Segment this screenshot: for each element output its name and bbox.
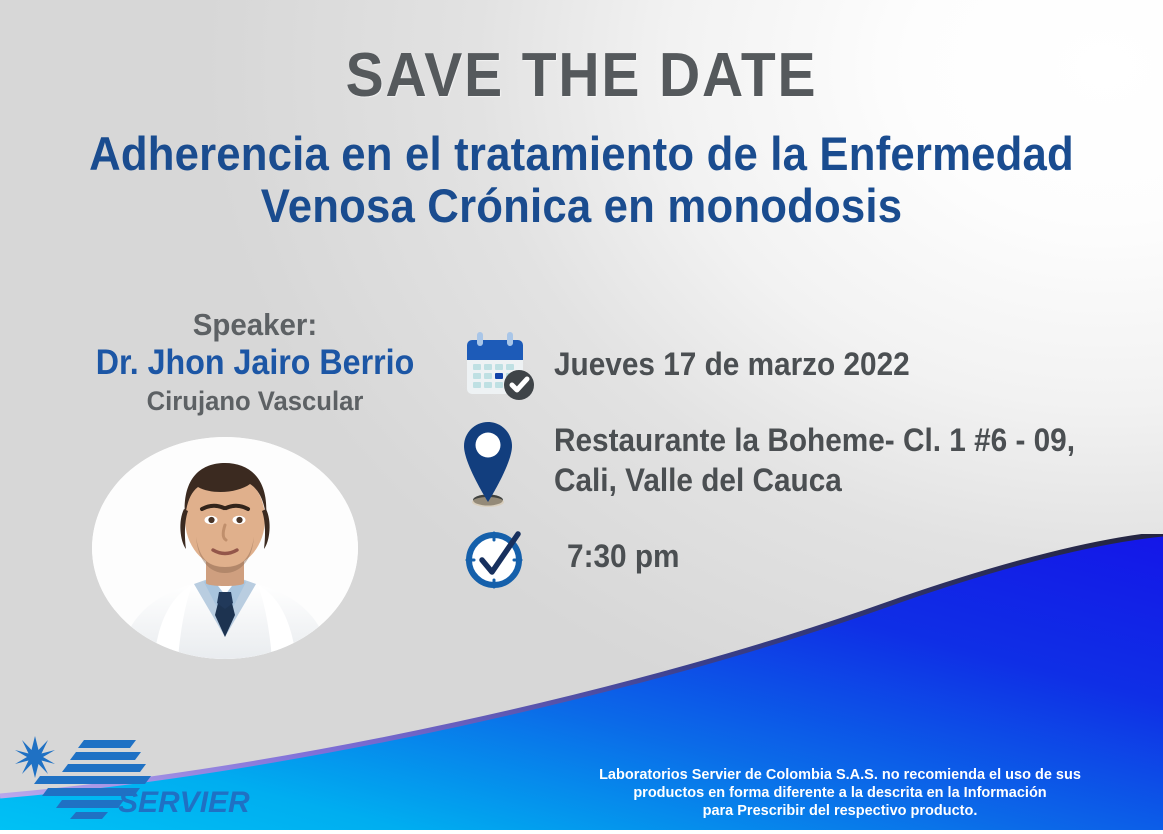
poster-canvas: SAVE THE DATE Adherencia en el tratamien… [0, 0, 1163, 834]
speaker-block: Speaker: Dr. Jhon Jairo Berrio Cirujano … [55, 308, 455, 417]
clock-check-icon [462, 526, 554, 594]
detail-row-date: Jueves 17 de marzo 2022 [462, 330, 1152, 402]
speaker-photo [92, 437, 358, 659]
speaker-role: Cirujano Vascular [65, 385, 445, 417]
servier-logo: SERVIER [10, 726, 260, 826]
kicker-save-the-date: SAVE THE DATE [47, 44, 1117, 108]
event-location-text: Restaurante la Boheme- Cl. 1 #6 - 09, Ca… [554, 416, 1075, 500]
location-pin-icon [462, 416, 554, 512]
legal-disclaimer: Laboratorios Servier de Colombia S.A.S. … [540, 766, 1140, 820]
doctor-portrait-illustration [92, 437, 358, 659]
event-time-text: 7:30 pm [554, 526, 679, 576]
detail-row-location: Restaurante la Boheme- Cl. 1 #6 - 09, Ca… [462, 416, 1152, 512]
event-details: Jueves 17 de marzo 2022 Restaurante la B… [462, 330, 1152, 608]
event-date-text: Jueves 17 de marzo 2022 [554, 330, 910, 384]
page-title: Adherencia en el tratamiento de la Enfer… [41, 128, 1123, 232]
calendar-check-icon [462, 330, 554, 402]
servier-wordmark: SERVIER [118, 786, 250, 819]
servier-star-logo: SERVIER [10, 726, 260, 826]
detail-row-time: 7:30 pm [462, 526, 1152, 594]
speaker-label: Speaker: [65, 308, 445, 342]
bottom-white-strip [0, 830, 1163, 834]
starburst-icon [15, 736, 55, 778]
speaker-name: Dr. Jhon Jairo Berrio [71, 343, 439, 383]
